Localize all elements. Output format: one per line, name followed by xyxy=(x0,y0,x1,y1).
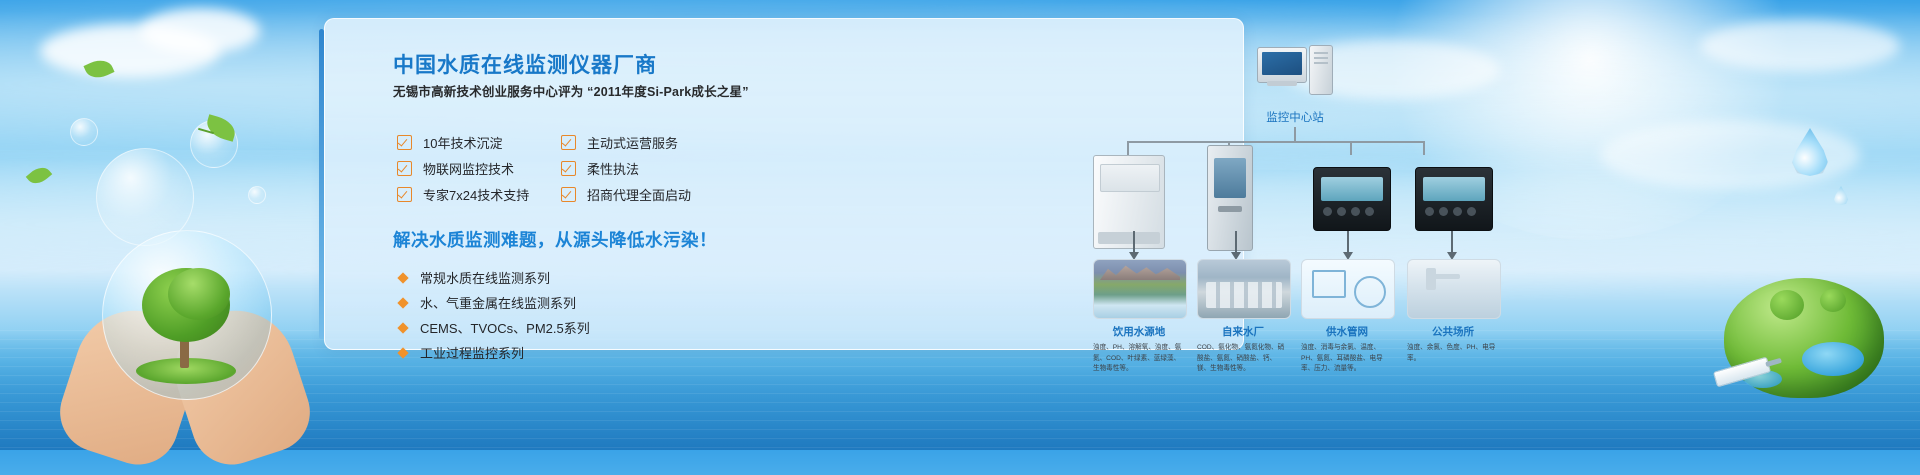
scene-card: 公共场所 浊度、余氯、色度、PH、电导率。 xyxy=(1407,259,1499,364)
section-title: 解决水质监测难题，从源头降低水污染！ xyxy=(393,227,717,252)
bus-horizontal xyxy=(1127,141,1425,143)
feature-list-right: 主动式运营服务 柔性执法 招商代理全面启动 xyxy=(561,129,891,207)
control-center-label: 监控中心站 xyxy=(1225,109,1365,125)
check-icon xyxy=(397,187,412,202)
feature-item: 主动式运营服务 xyxy=(561,129,891,155)
feature-label: 主动式运营服务 xyxy=(587,133,678,152)
feature-item: 招商代理全面启动 xyxy=(561,181,891,207)
diamond-bullet-icon xyxy=(397,322,408,333)
pc-tower-icon xyxy=(1309,45,1333,95)
bus-drop-3 xyxy=(1350,141,1352,155)
cabinet-window xyxy=(1214,158,1246,198)
scene-description: 浊度、消毒与余氯、温度、PH、氨氮、耳磷酸盐、电导率、压力、流量等。 xyxy=(1301,343,1393,375)
check-icon xyxy=(561,135,576,150)
scene-card: 供水管网 浊度、消毒与余氯、温度、PH、氨氮、耳磷酸盐、电导率、压力、流量等。 xyxy=(1301,259,1393,375)
monitor-base xyxy=(1267,81,1297,86)
list-item: CEMS、TVOCs、PM2.5系列 xyxy=(399,315,590,340)
check-icon xyxy=(561,161,576,176)
tree-crown-secondary xyxy=(168,268,230,320)
diamond-bullet-icon xyxy=(397,347,408,358)
check-icon xyxy=(397,135,412,150)
feature-label: 专家7x24技术支持 xyxy=(423,185,529,204)
scene-title: 自来水厂 xyxy=(1197,324,1289,339)
analyzer-base xyxy=(1098,232,1160,244)
diamond-bullet-icon xyxy=(397,272,408,283)
feature-item: 柔性执法 xyxy=(561,155,891,181)
list-item-label: 水、气重金属在线监测系列 xyxy=(420,293,576,312)
cloud-2 xyxy=(140,8,260,54)
scene-title: 供水管网 xyxy=(1301,324,1393,339)
flow-arrow-3 xyxy=(1347,231,1349,253)
bus-drop-4 xyxy=(1423,141,1425,155)
scene-description: 浊度、余氯、色度、PH、电导率。 xyxy=(1407,343,1499,364)
bubble-small xyxy=(70,118,98,146)
flow-arrow-4 xyxy=(1451,231,1453,253)
application-scenes: 饮用水源地 浊度、PH、溶解氧、浊度、氨氮、COD、叶绿素、蓝绿藻、生物毒性等。… xyxy=(1085,259,1545,359)
check-icon xyxy=(561,187,576,202)
island-lake xyxy=(1802,342,1864,376)
list-item: 工业过程监控系列 xyxy=(399,340,590,365)
scene-description: COD、氨化物、氨氮化物、硝酸盐、氨氮、硝酸盐、钙、镁、生物毒性等。 xyxy=(1197,343,1289,375)
list-item-label: CEMS、TVOCs、PM2.5系列 xyxy=(420,318,590,337)
monitoring-station-cabinet-icon xyxy=(1207,145,1253,251)
cabinet-control xyxy=(1218,206,1242,212)
flow-arrow-1 xyxy=(1133,231,1135,253)
scene-thumbnail-public-place xyxy=(1407,259,1501,319)
analyzer-panel xyxy=(1100,164,1160,192)
feature-label: 物联网监控技术 xyxy=(423,159,514,178)
flow-arrow-2 xyxy=(1235,231,1237,253)
page-subtitle: 无锡市高新技术创业服务中心评为 “2011年度Si-Park成长之星” xyxy=(393,81,749,100)
bus-drop-1 xyxy=(1127,141,1129,155)
controller-buttons-1 xyxy=(1323,207,1374,216)
list-item-label: 工业过程监控系列 xyxy=(420,343,524,362)
bubble-tiny xyxy=(248,186,266,204)
scene-card: 饮用水源地 浊度、PH、溶解氧、浊度、氨氮、COD、叶绿素、蓝绿藻、生物毒性等。 xyxy=(1093,259,1185,375)
device-row xyxy=(1085,157,1545,247)
online-controller-icon-2 xyxy=(1415,167,1493,231)
monitor-icon xyxy=(1257,47,1307,83)
online-controller-icon-1 xyxy=(1313,167,1391,231)
scene-title: 饮用水源地 xyxy=(1093,324,1185,339)
diamond-bullet-icon xyxy=(397,297,408,308)
scene-description: 浊度、PH、溶解氧、浊度、氨氮、COD、叶绿素、蓝绿藻、生物毒性等。 xyxy=(1093,343,1185,375)
scene-thumbnail-water-source xyxy=(1093,259,1187,319)
scene-thumbnail-pipe-network xyxy=(1301,259,1395,319)
bus-vertical xyxy=(1294,127,1296,141)
list-item-label: 常规水质在线监测系列 xyxy=(420,268,550,287)
feature-label: 招商代理全面启动 xyxy=(587,185,691,204)
list-item: 常规水质在线监测系列 xyxy=(399,265,590,290)
feature-label: 柔性执法 xyxy=(587,159,639,178)
controller-display-2 xyxy=(1423,177,1485,201)
scene-card: 自来水厂 COD、氨化物、氨氮化物、硝酸盐、氨氮、硝酸盐、钙、镁、生物毒性等。 xyxy=(1197,259,1289,375)
cloud-5 xyxy=(1700,20,1900,72)
monitor-screen xyxy=(1262,52,1302,75)
green-island-illustration xyxy=(1724,268,1884,398)
water-analyzer-cabinet-icon xyxy=(1093,155,1165,249)
content-panel: 中国水质在线监测仪器厂商 无锡市高新技术创业服务中心评为 “2011年度Si-P… xyxy=(324,18,1244,350)
island-tree-1 xyxy=(1770,290,1804,320)
scene-title: 公共场所 xyxy=(1407,324,1499,339)
product-series-list: 常规水质在线监测系列 水、气重金属在线监测系列 CEMS、TVOCs、PM2.5… xyxy=(399,265,590,365)
hands-illustration xyxy=(70,240,300,460)
list-item: 水、气重金属在线监测系列 xyxy=(399,290,590,315)
feature-label: 10年技术沉淀 xyxy=(423,133,502,152)
controller-buttons-2 xyxy=(1425,207,1476,216)
check-icon xyxy=(397,161,412,176)
island-tree-2 xyxy=(1820,289,1846,312)
system-architecture-diagram: 监控中心站 xyxy=(1085,41,1545,361)
control-center-computer-icon xyxy=(1257,45,1333,97)
controller-display-1 xyxy=(1321,177,1383,201)
scene-thumbnail-water-plant xyxy=(1197,259,1291,319)
page-title: 中国水质在线监测仪器厂商 xyxy=(393,49,657,79)
